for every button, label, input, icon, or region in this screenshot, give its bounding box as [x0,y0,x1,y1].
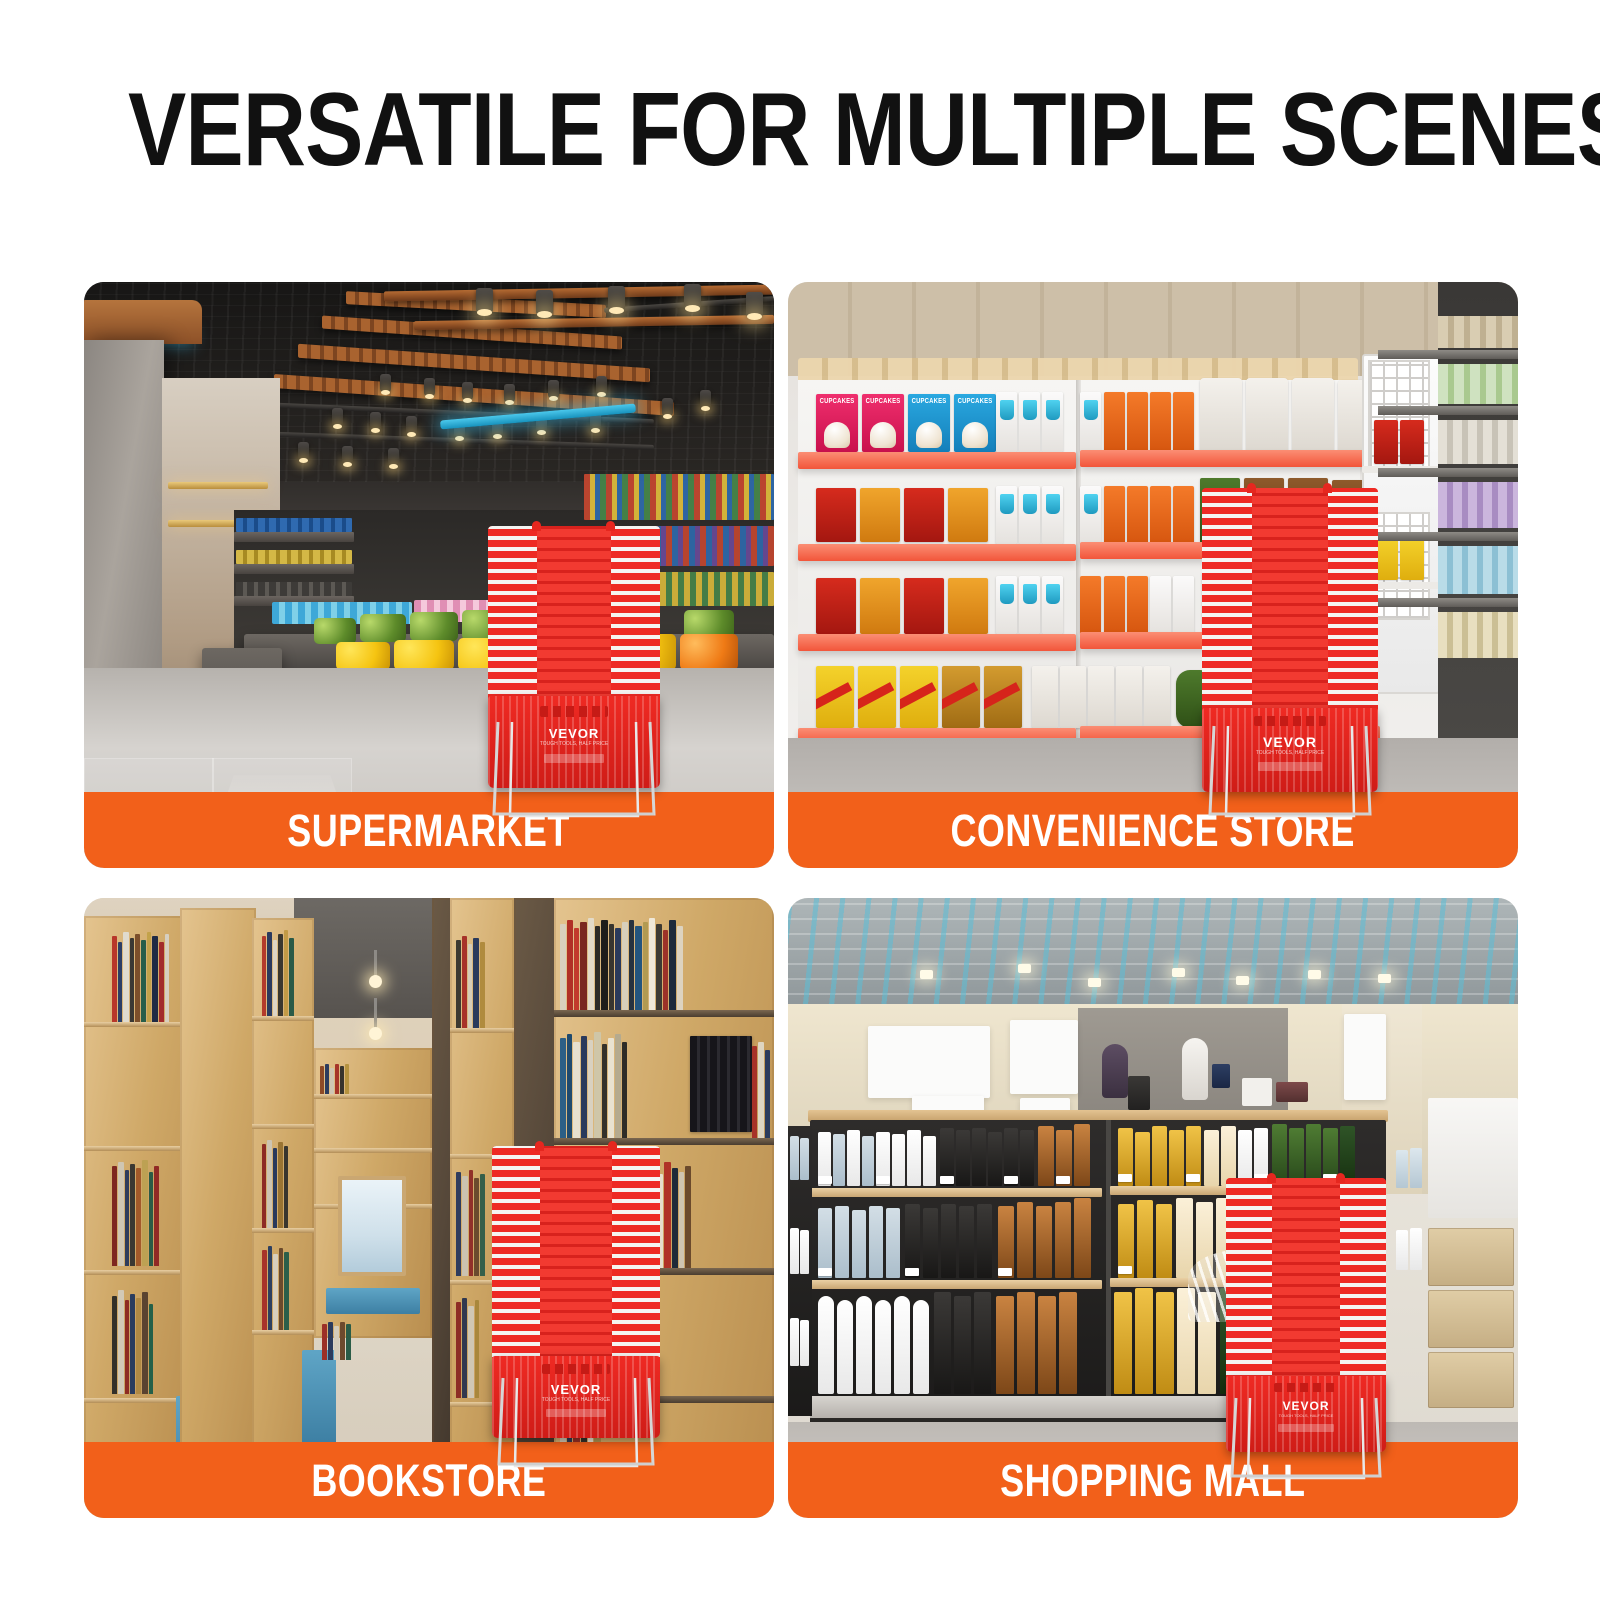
book-spine [165,934,169,1022]
page-title: VERSATILE FOR MULTIPLE SCENES [128,78,1472,182]
caption-bar-bookstore: BOOKSTORE [84,1442,774,1518]
juice-icon [1023,400,1037,420]
product-juice-box [1127,576,1148,634]
product-bottle [934,1292,951,1394]
product-bottle [1020,1130,1034,1186]
price-tag [818,1176,832,1184]
book-spine [475,1300,479,1398]
caption-bar-supermarket: SUPERMARKET [84,792,774,868]
book-spine [462,936,467,1028]
product-pack [1088,666,1114,728]
book-spine [273,940,277,1016]
book-spine [262,936,266,1016]
display-bag [1212,1064,1230,1088]
product-bottle [790,1136,799,1180]
book-spine [456,940,461,1028]
basket-label-line [544,754,604,763]
book-spine [594,1032,601,1138]
spotlight-icon [298,442,309,460]
shelf-board [1378,598,1518,607]
product-bottle [852,1210,866,1278]
basket-vent [542,1364,610,1374]
ceiling-light [920,970,933,979]
shelf-edge [1080,450,1380,467]
product-bottle [1137,1200,1153,1278]
wall-unit [1428,1098,1518,1218]
product-bottle [833,1134,845,1186]
shelf-line [252,1330,314,1335]
book-spine [588,1040,593,1138]
product-tube [856,1296,872,1394]
shelf-line [314,1148,432,1153]
shelf-board [1378,350,1518,359]
book-spine [112,936,117,1022]
product-box [1400,538,1424,580]
scene-convenience-store-image: CUPCAKES CUPCAKES CUPCAKES CUPCAKES [788,282,1518,868]
panel-shopping-mall[interactable]: VEVOR TOUGH TOOLS, HALF PRICE SHOPPING [788,898,1518,1518]
product-bottle [1410,1228,1422,1270]
shelf-board [234,564,354,574]
book-spine [622,1042,627,1138]
storage-box [1428,1352,1514,1408]
product-bottle [1306,1124,1321,1186]
book-spine [560,924,566,1010]
spotlight-icon [476,288,493,313]
basket-stack-body [1202,488,1378,738]
candy-stripe [984,682,1021,713]
shelf-board [810,1188,1102,1197]
book-spine [595,926,600,1010]
product-box [860,578,900,634]
juice-icon [1084,400,1098,420]
product-bottle [1036,1206,1052,1278]
product-basket-stack[interactable]: VEVOR TOUGH TOOLS, HALF PRICE [1226,1178,1386,1484]
book-spine [118,942,122,1022]
basket-front: VEVOR TOUGH TOOLS, HALF PRICE [1226,1376,1386,1452]
product-bottle [1396,1150,1408,1188]
book-spine [141,940,146,1022]
product-juice-carton [1019,486,1040,544]
product-bottle [1156,1204,1172,1278]
product-bottle [974,1292,991,1394]
book-row [112,1284,174,1394]
basket-front: VEVOR TOUGH TOOLS, HALF PRICE [488,696,660,788]
product-pack [1116,666,1142,728]
product-snack-bag [1246,378,1288,452]
book-spine [752,1046,757,1138]
book-spine [328,1322,333,1360]
product-bottle [886,1208,900,1278]
signage-board [1010,1020,1078,1094]
book-spine [462,1176,468,1276]
book-spine [649,918,655,1010]
book-spine [123,932,129,1022]
product-bottle [847,1130,860,1186]
product-juice-box [1173,486,1194,544]
shelf-board [234,532,354,542]
shelf-goods [236,550,352,564]
product-box [816,578,856,634]
storage-box [1428,1228,1514,1286]
book-spine [602,1044,607,1138]
product-chocolate-box [942,666,980,728]
book-spine [601,920,608,1010]
product-juice-box [1104,392,1125,452]
product-bottle [892,1134,905,1186]
product-bottle [800,1320,809,1366]
book-spine [125,1170,129,1266]
book-spine [340,1066,344,1094]
book-row [262,928,310,1016]
display-plinth [1242,1078,1272,1106]
product-label: CUPCAKES [865,398,901,405]
product-bottle [1135,1132,1150,1186]
shelf-line [554,1138,774,1145]
product-basket-stack[interactable]: VEVOR TOUGH TOOLS, HALF PRICE [492,1146,660,1472]
product-bottle [954,1296,971,1394]
basket-knob [606,521,615,531]
book-spine [130,1294,135,1394]
signage-board [1344,1014,1386,1100]
book-spine [643,922,648,1010]
background-goods [1438,364,1518,404]
juice-icon [1046,584,1060,604]
book-spine [456,1302,461,1398]
produce-green [314,618,356,644]
shelf-line [84,1146,184,1151]
display-plinth [1128,1076,1150,1110]
book-spine [615,928,621,1010]
basket-handles-right [1328,488,1378,738]
book-row [560,916,768,1010]
spotlight-icon [406,416,417,434]
book-spine [567,920,573,1010]
basket-knob [1247,483,1256,493]
shelf-goods [236,518,352,532]
candy-stripe [858,682,895,713]
juice-icon [1000,400,1014,420]
spotlight-icon [462,382,473,400]
book-spine [346,1324,351,1360]
spotlight-icon [388,448,399,466]
product-juice-carton [996,576,1017,634]
shelf-line [450,1028,514,1033]
product-juice-box [1150,392,1171,452]
price-tag [905,1268,919,1276]
book-spine [118,1290,124,1394]
product-bottle [1114,1292,1132,1394]
basket-vent [540,706,608,717]
book-spine [340,1322,345,1360]
product-juice-carton [996,392,1017,452]
candy-stripe [816,682,853,713]
scene-grid: VEVOR TOUGH TOOLS, HALF PRICE SUPERMARK [84,282,1518,1518]
spotlight-icon [504,384,515,402]
book-spine [468,1306,474,1398]
book-spine [635,926,642,1010]
juice-icon [1000,494,1014,514]
book-spine [669,920,676,1010]
product-bottle [1055,1202,1071,1278]
book-spine [560,1038,566,1138]
book-row [322,1318,428,1360]
juice-icon [1000,584,1014,604]
product-snack-bag [1200,378,1242,452]
product-juice-box [1173,392,1194,452]
product-candy-box [900,666,938,728]
juice-icon [1046,400,1060,420]
basket-handles-right [1340,1178,1386,1408]
book-spine [262,1144,266,1228]
basket-knob [1267,1173,1276,1183]
product-pack [1144,666,1170,728]
bookcase-divider [180,908,256,1518]
product-snack-bag [1292,378,1334,452]
signage-board [868,1026,990,1098]
basket-knob [1336,1173,1345,1183]
book-spine [136,1168,141,1266]
book-spine [268,1246,272,1330]
spotlight-icon [746,292,763,317]
book-spine [125,1300,129,1394]
product-basket-stack[interactable]: VEVOR TOUGH TOOLS, HALF PRICE [1202,488,1378,822]
scene-bookstore-image: VEVOR TOUGH TOOLS, HALF PRICE [84,898,774,1518]
product-bottle [1074,1124,1090,1186]
produce-green [360,614,406,642]
shelf-board [1378,406,1518,415]
product-chocolate-box [984,666,1022,728]
book-spine [474,1178,479,1276]
book-spine [468,944,472,1028]
product-basket-stack[interactable]: VEVOR TOUGH TOOLS, HALF PRICE [488,526,660,822]
spotlight-icon [380,374,391,392]
panel-bookstore[interactable]: VEVOR TOUGH TOOLS, HALF PRICE BOOKSTORE [84,898,774,1518]
book-spine [456,1172,461,1276]
product-bottle [1396,1230,1408,1270]
book-spine [284,930,288,1016]
book-row [262,1136,310,1228]
spotlight-icon [700,390,711,408]
book-spine [149,1304,153,1394]
basket-front: VEVOR TOUGH TOOLS, HALF PRICE [492,1356,660,1438]
price-tag [818,1268,832,1276]
book-spine [469,1170,473,1276]
pillar-header [84,300,202,344]
book-spine [330,1068,334,1094]
background-goods [1438,546,1518,594]
book-spine [262,1250,267,1330]
basket-vent [1274,1383,1338,1392]
book-row [752,1038,774,1138]
wall-shelf [168,482,268,489]
basket-knob [532,521,541,531]
product-juice-carton [1173,576,1194,634]
book-spine [462,1298,467,1398]
background-goods [1438,420,1518,464]
scene-shopping-mall-image: VEVOR TOUGH TOOLS, HALF PRICE [788,898,1518,1518]
product-bottle [862,1136,874,1186]
price-tag [940,1176,954,1184]
book-spine [615,1034,621,1138]
book-spine [480,942,485,1028]
product-tube [875,1300,891,1394]
spotlight-icon [548,380,559,398]
panel-convenience-store[interactable]: CUPCAKES CUPCAKES CUPCAKES CUPCAKES [788,282,1518,868]
book-spine [629,920,634,1010]
juice-icon [1023,494,1037,514]
produce-lemons [394,640,454,670]
shelf-board [810,1280,1102,1289]
product-tube [894,1296,910,1394]
caption-bar-shopping-mall: SHOPPING MALL [788,1442,1518,1518]
book-spine [159,942,164,1022]
shelf-edge [798,544,1076,561]
book-spine [664,1162,671,1268]
background-goods [1438,316,1518,348]
product-bottle [800,1138,809,1180]
shelf-board [1378,532,1518,541]
book-spine [325,1064,329,1094]
juice-icon [1084,494,1098,514]
book-row [320,1060,424,1094]
shelf-edge [798,452,1076,469]
product-bottle [1176,1198,1193,1278]
product-bottle [1221,1126,1236,1186]
product-bottle [835,1206,849,1278]
product-bottle [996,1296,1014,1394]
pendant-light [374,998,377,1030]
spotlight-icon [608,286,625,311]
book-spine [679,1172,684,1268]
product-box [816,488,856,542]
shelf-line [84,1270,184,1275]
shelf-line [554,1010,774,1017]
book-spine [154,1166,159,1266]
product-bottle [1135,1288,1153,1394]
book-spine [322,1324,327,1360]
book-row [112,928,174,1022]
panel-supermarket[interactable]: VEVOR TOUGH TOOLS, HALF PRICE SUPERMARK [84,282,774,868]
book-spine [574,928,579,1010]
spotlight-icon [424,378,435,396]
price-tag [1118,1174,1132,1182]
book-spine [279,1248,283,1330]
basket-stack-body [1226,1178,1386,1408]
book-spine [112,1166,117,1266]
book-spine [278,1142,283,1228]
book-spine [289,938,294,1016]
product-box [948,578,988,634]
spotlight-icon [662,398,673,416]
book-spine [273,1254,278,1330]
product-bottle [923,1136,936,1186]
book-spine [118,1162,124,1266]
candy-stripe [942,682,979,713]
book-spine [130,1164,135,1266]
cupcake-icon [870,422,896,448]
book-spine [663,930,668,1010]
product-juice-box [1150,486,1171,544]
book-row [560,1028,690,1138]
product-candy-box [816,666,854,728]
book-spine [573,1042,580,1138]
infographic-root: VERSATILE FOR MULTIPLE SCENES [0,0,1600,1600]
produce-oranges [680,634,738,670]
book-spine [345,1064,349,1094]
basket-handles-left [1226,1178,1272,1408]
book-spine [581,1036,587,1138]
book-row [262,1242,310,1330]
product-candy-box [858,666,896,728]
product-juice-carton [1080,486,1101,544]
book-spine [480,1174,485,1276]
book-spine [267,932,272,1016]
basket-handles-right [612,1146,660,1390]
product-juice-carton [1080,392,1101,452]
product-bottle [988,1132,1002,1186]
product-pack [1032,666,1058,728]
basket-stack-middle [1272,1178,1340,1408]
product-juice-box [1080,576,1101,634]
book-spine [672,1168,678,1268]
product-bottle [1410,1148,1422,1188]
book-spine [765,1050,770,1138]
product-bottle [1038,1126,1054,1186]
product-juice-box [1127,486,1148,544]
book-spine [284,1146,288,1228]
price-tag [1186,1174,1200,1182]
price-tag [1056,1176,1070,1184]
product-box [1400,420,1424,464]
basket-knob [1323,483,1332,493]
book-display-cover [690,1036,752,1132]
basket-vent [1254,716,1326,726]
background-goods [1438,612,1518,658]
book-spine [267,1140,272,1228]
product-bottle [977,1204,992,1278]
book-spine [142,1292,148,1394]
produce-lemons [336,642,390,670]
ceiling-light [1236,976,1249,985]
basket-stack-middle [1252,488,1328,738]
ceiling-grid [788,898,1518,1010]
book-spine [656,924,662,1010]
shelf-line [252,1228,314,1233]
product-box [1374,420,1398,464]
product-box-cupcakes: CUPCAKES [954,394,996,452]
product-box-cupcakes: CUPCAKES [816,394,858,452]
spotlight-icon [684,284,701,309]
cupcake-icon [962,422,988,448]
corridor-window [338,1176,406,1276]
caption-bar-convenience-store: CONVENIENCE STORE [788,792,1518,868]
book-spine [135,934,140,1022]
product-label: CUPCAKES [819,398,855,405]
bench-cushion [302,1350,336,1444]
book-spine [588,918,594,1010]
product-box-cupcakes: CUPCAKES [862,394,904,452]
basket-stack-body [492,1146,660,1390]
product-label: CUPCAKES [911,398,947,405]
book-spine [677,926,683,1010]
product-juice-carton [1019,392,1040,452]
product-juice-carton [1150,576,1171,634]
background-shelving [1438,282,1518,802]
product-box [860,488,900,542]
product-bottle [905,1204,920,1278]
product-box [948,488,988,542]
product-label: CUPCAKES [957,398,993,405]
